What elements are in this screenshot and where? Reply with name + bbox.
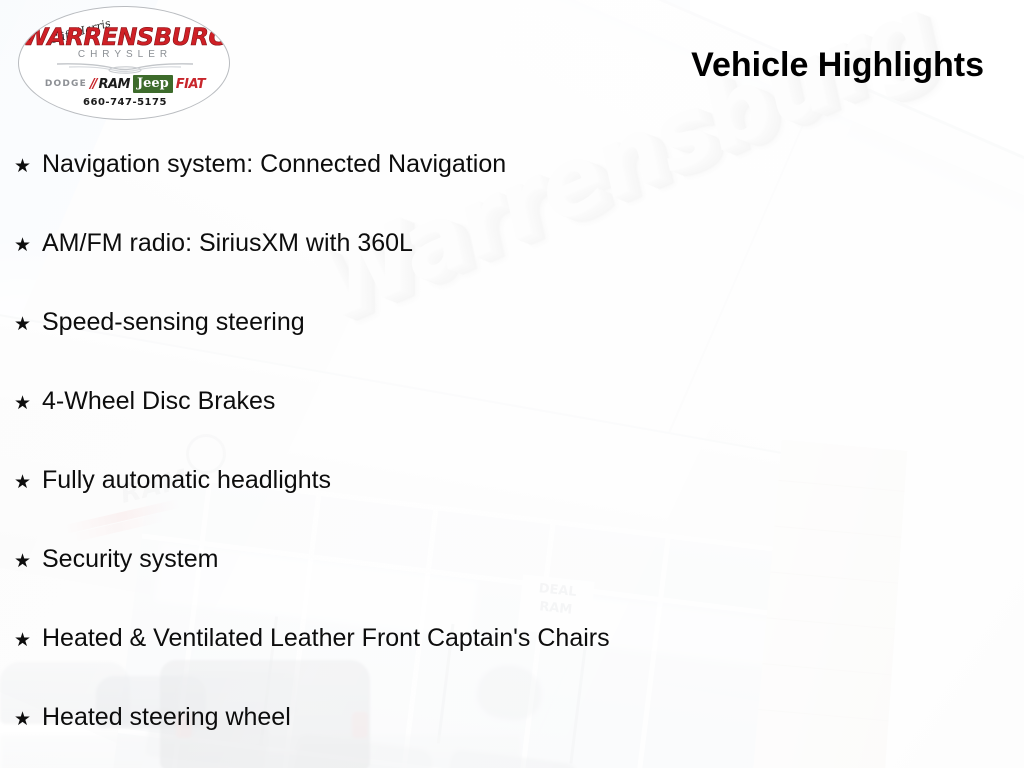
highlight-label: Security system: [42, 547, 218, 572]
highlight-label: Heated & Ventilated Leather Front Captai…: [42, 626, 610, 651]
list-item: ★ 4-Wheel Disc Brakes: [10, 389, 970, 468]
star-bullet-icon: ★: [10, 157, 42, 176]
dealer-phone-number[interactable]: 660-747-5175: [19, 97, 230, 108]
list-item: ★ Navigation system: Connected Navigatio…: [10, 152, 970, 231]
list-item: ★ Heated steering wheel: [10, 705, 970, 768]
star-bullet-icon: ★: [10, 631, 42, 650]
list-item: ★ Security system: [10, 547, 970, 626]
star-bullet-icon: ★: [10, 236, 42, 255]
star-bullet-icon: ★: [10, 473, 42, 492]
fiat-wordmark: FIAT: [176, 77, 205, 92]
ram-wordmark: RAM: [98, 77, 130, 92]
dealer-name: WARRENSBURG: [19, 23, 230, 51]
star-bullet-icon: ★: [10, 315, 42, 334]
highlight-label: Speed-sensing steering: [42, 310, 305, 335]
highlight-label: AM/FM radio: SiriusXM with 360L: [42, 231, 413, 256]
ram-slash-icon: //: [90, 77, 96, 92]
list-item: ★ Heated & Ventilated Leather Front Capt…: [10, 626, 970, 705]
page-title: Vehicle Highlights: [691, 46, 984, 85]
jeep-wordmark: Jeep: [133, 75, 173, 93]
list-item: ★ Speed-sensing steering: [10, 310, 970, 389]
list-item: ★ Fully automatic headlights: [10, 468, 970, 547]
highlight-label: Heated steering wheel: [42, 705, 291, 730]
vehicle-highlights-slide: DEAL RAM Warrensburg RAM Cliff: [0, 0, 1024, 768]
highlight-label: Fully automatic headlights: [42, 468, 331, 493]
vehicle-highlights-list: ★ Navigation system: Connected Navigatio…: [10, 152, 970, 768]
list-item: ★ AM/FM radio: SiriusXM with 360L: [10, 231, 970, 310]
star-bullet-icon: ★: [10, 394, 42, 413]
dealer-franchise: CHRYSLER: [19, 49, 230, 60]
brand-marks-row: DODGE // RAM Jeep FIAT: [19, 75, 230, 93]
star-bullet-icon: ★: [10, 710, 42, 729]
star-bullet-icon: ★: [10, 552, 42, 571]
dealer-logo[interactable]: Cliff Harris WARRENSBURG CHRYSLER DODGE …: [18, 6, 230, 120]
highlight-label: Navigation system: Connected Navigation: [42, 152, 506, 177]
dodge-wordmark: DODGE: [45, 79, 87, 89]
chrysler-wing-icon: [55, 62, 195, 74]
highlight-label: 4-Wheel Disc Brakes: [42, 389, 275, 414]
